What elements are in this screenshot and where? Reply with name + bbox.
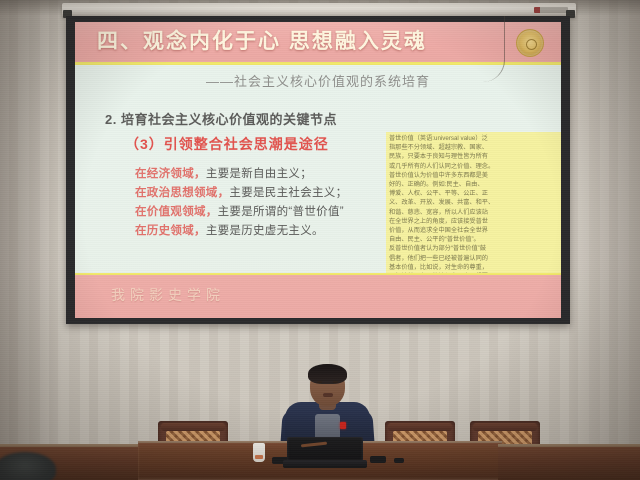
note-line: 普世价值认为价值中许多东西都是美 [389,171,559,180]
note-line: 指那些不分领域、超越宗教、国家、 [389,143,559,152]
slide-subtitle: ——社会主义核心价值观的系统培育 [75,73,561,91]
projection-screen-frame: 四、观念内化于心 思想融入灵魂 ——社会主义核心价值观的系统培育 2. 培育社会… [66,16,570,324]
slide-footer-band: 我院影史学院 [75,275,561,318]
bullet-emphasis: 在历史领域， [135,225,206,237]
slide-title: 四、观念内化于心 思想融入灵魂 [97,28,507,56]
note-line: 价值，从而追求全中国全社会全世界 [389,226,559,235]
slide-header-band: 四、观念内化于心 思想融入灵魂 [75,22,561,62]
table-surface-right [498,447,640,480]
chair-crest [473,423,537,431]
projector-screen-roller [62,3,576,17]
note-line: 和谐、慈悲、宽容，所以人们应该站 [389,208,559,217]
note-line: 基本价值，比如说，对生命的尊重， [389,263,559,272]
bullet-rest: 主要是民主社会主义； [229,187,347,199]
presentation-slide: 四、观念内化于心 思想融入灵魂 ——社会主义核心价值观的系统培育 2. 培育社会… [75,22,561,318]
bullet-emphasis: 在经济领域， [135,168,206,180]
bullet-rest: 主要是历史虚无主义。 [206,225,324,237]
note-line: 倡者，他们把一些已经被普遍认同的 [389,254,559,263]
roller-brand-logo [534,7,568,13]
laptop-reflection [301,442,327,448]
presenter-mouth [323,393,333,397]
note-line: 好的、正确的。例如:民主、自由、 [389,180,559,189]
slide-heading-sub: （3）引领整合社会思潮是途径 [125,135,329,154]
slide-heading-numbered: 2. 培育社会主义核心价值观的关键节点 [105,111,337,129]
laptop-screen [287,437,363,461]
chair-crest [161,423,225,431]
school-emblem-icon [516,29,544,57]
note-line: 反普世价值者认为部分“普世价值”鼓 [389,244,559,253]
chair-crest [388,423,452,431]
bullet-emphasis: 在政治思想领域， [135,187,229,199]
conference-room-photo: 四、观念内化于心 思想融入灵魂 ——社会主义核心价值观的系统培育 2. 培育社会… [0,0,640,480]
note-line: 在全世界之上的角度，应该接受普世 [389,217,559,226]
note-line: 或几乎所有的人们认同之价值、理念。 [389,162,559,171]
laptop-keyboard [283,460,367,468]
slide-footer-text: 我院影史学院 [111,286,225,306]
note-line: 义、改革、开放、发展、共富、和平、 [389,198,559,207]
wall-shadow-right [570,0,640,480]
wall-shadow-left [0,0,62,480]
desk-object [370,456,386,463]
note-line: 自由、民主、公平的“普世价值”。 [389,235,559,244]
note-line: 博爱、人权、公平、平等、公正、正 [389,189,559,198]
note-line: 普世价值（英语:universal value）泛 [389,134,559,143]
presenter-hair [308,364,347,384]
desk-object [394,458,404,463]
bullet-rest: 主要是新自由主义； [206,168,312,180]
bullet-emphasis: 在价值观领域， [135,206,218,218]
presenter-eye-left [317,381,322,383]
presenter-eye-right [333,381,338,383]
paper-cup [253,443,265,462]
note-line: 民族，只要本于良知与理性皆为所有 [389,152,559,161]
open-laptop [283,437,367,467]
bullet-rest: 主要是所谓的“普世价值” [218,206,344,218]
slide-body: ——社会主义核心价值观的系统培育 2. 培育社会主义核心价值观的关键节点 （3）… [75,65,561,275]
presenter-badge [340,422,346,429]
